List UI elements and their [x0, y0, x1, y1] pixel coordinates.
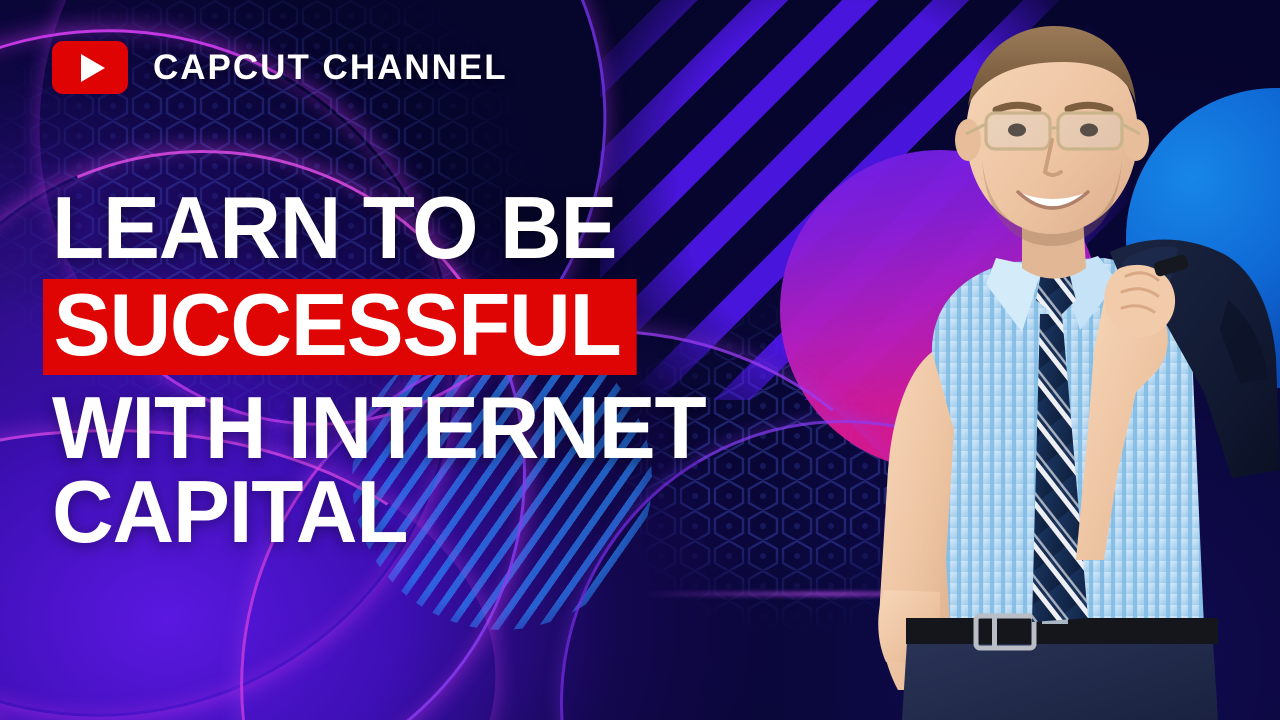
play-triangle-icon	[81, 54, 105, 82]
headline-line-4: CAPITAL	[52, 470, 705, 554]
channel-name: CAPCUT CHANNEL	[153, 48, 508, 88]
headline-line-1: LEARN TO BE	[52, 186, 705, 270]
channel-badge: CAPCUT CHANNEL	[52, 41, 508, 94]
headline-line-3: WITH INTERNET	[52, 386, 705, 470]
thumbnail-canvas: CAPCUT CHANNEL LEARN TO BE SUCCESSFUL WI…	[0, 0, 1280, 720]
headline-line-2-highlighted: SUCCESSFUL	[43, 279, 636, 375]
person-photo	[836, 0, 1280, 720]
headline-block: LEARN TO BE SUCCESSFUL WITH INTERNET CAP…	[52, 186, 726, 554]
youtube-play-icon[interactable]	[52, 41, 128, 94]
